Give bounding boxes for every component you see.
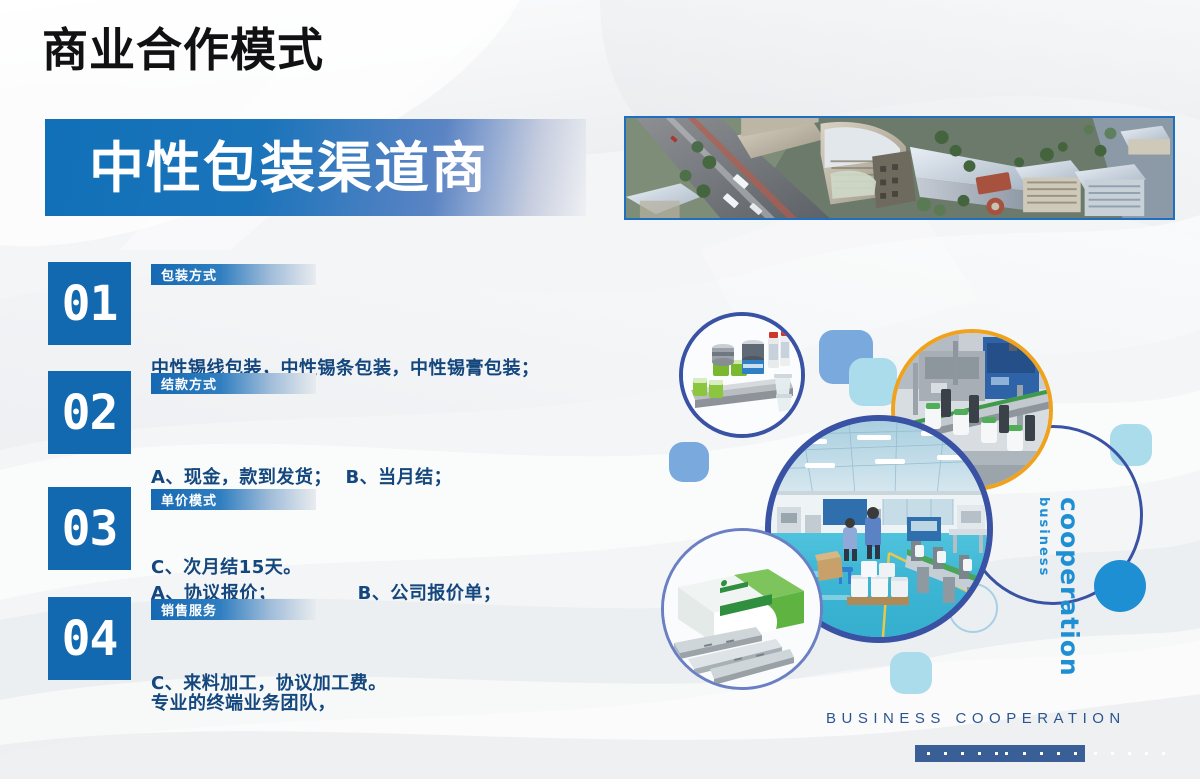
worker-seated <box>843 518 857 561</box>
packaged-solder-bar-circle <box>661 528 823 690</box>
header-campus-photo <box>624 116 1175 220</box>
item-tag: 结款方式 <box>151 373 316 394</box>
decorative-square-pale-1 <box>849 358 897 406</box>
dot-bar-tail <box>1090 745 1180 762</box>
decorative-square-blue-2 <box>669 442 709 482</box>
product-box-with-solder-bars-illustration <box>664 531 820 687</box>
dot-bar-accent <box>915 745 1085 762</box>
solder-paste-products-circle <box>679 312 805 438</box>
filled-circle-cyan <box>1094 560 1146 612</box>
item-number: 03 <box>62 505 118 553</box>
production-line-circle <box>891 329 1053 491</box>
outline-circle-small <box>948 583 998 633</box>
subtitle-banner: 中性包装渠道商 <box>45 119 586 216</box>
item-tag-label: 结款方式 <box>151 374 217 393</box>
vertical-label-cooperation: cooperation <box>1055 497 1084 677</box>
vertical-label-business: business <box>1036 497 1051 577</box>
item-number-badge: 03 <box>48 487 131 570</box>
decorative-square-pale-3 <box>890 652 932 694</box>
item-number-badge: 04 <box>48 597 131 680</box>
item-number-badge: 02 <box>48 371 131 454</box>
poster-canvas: 商业合作模式 中性包装渠道商 <box>0 0 1200 779</box>
page-title: 商业合作模式 <box>42 27 324 73</box>
decorative-square-blue-1 <box>819 330 873 384</box>
item-number: 02 <box>62 389 118 437</box>
tin-paste-cans-illustration <box>683 316 801 434</box>
item-tag: 包装方式 <box>151 264 316 285</box>
subtitle-text: 中性包装渠道商 <box>89 139 488 197</box>
item-body-line: 专业的终端业务团队， <box>151 689 654 719</box>
item-tag-label: 单价模式 <box>151 490 217 509</box>
outline-circle-large-right <box>963 425 1143 605</box>
factory-floor-circle <box>765 415 993 643</box>
item-tag-label: 销售服务 <box>151 600 217 619</box>
item-tag: 单价模式 <box>151 489 316 510</box>
item-tag: 销售服务 <box>151 599 316 620</box>
business-cooperation-label: BUSINESS COOPERATION <box>826 710 1126 727</box>
item-number: 01 <box>62 280 118 328</box>
clean-room-workshop-illustration <box>771 421 987 637</box>
automated-production-machine-illustration <box>895 333 1049 487</box>
aerial-campus-illustration <box>626 118 1173 218</box>
item-number: 04 <box>62 615 118 663</box>
item-tag-label: 包装方式 <box>151 265 217 284</box>
item-number-badge: 01 <box>48 262 131 345</box>
decorative-square-pale-2 <box>1110 424 1152 466</box>
item-body: 专业的终端业务团队， 由 总经理赖高平 13556798819 亲自安排合适人员… <box>151 629 654 779</box>
worker-standing-back <box>865 507 881 559</box>
